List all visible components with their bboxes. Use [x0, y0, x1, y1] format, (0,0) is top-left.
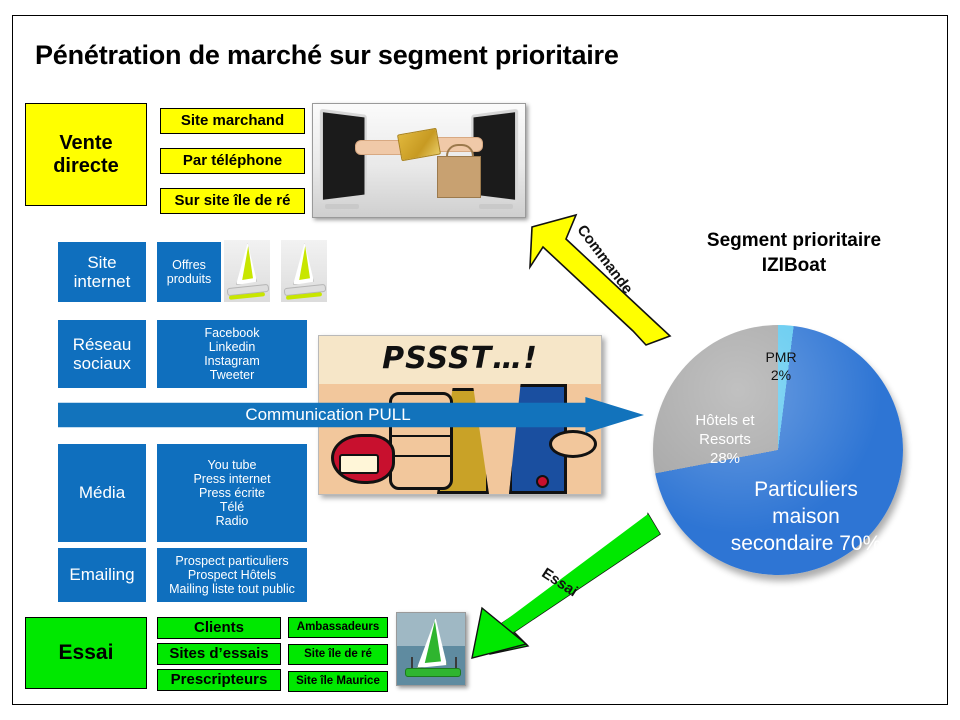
popart-teeth — [339, 454, 379, 474]
social-item: Linkedin — [209, 340, 256, 354]
essai-arrow[interactable]: Essai — [462, 512, 662, 672]
pie-label-hotels-value: 28% — [677, 449, 773, 468]
item-sur-site-ile-de-re[interactable]: Sur site île de ré — [160, 188, 305, 214]
media-label: Média — [79, 483, 125, 502]
vente-directe-line1: Vente — [59, 132, 112, 154]
segment-title: Segment prioritaire IZIBoat — [664, 228, 924, 278]
hull-shape — [405, 668, 461, 677]
communication-pull-label: Communication PULL — [58, 405, 598, 425]
segment-title-line2: IZIBoat — [664, 253, 924, 278]
pie-label-particuliers-l3: secondaire 70% — [711, 531, 901, 558]
item-sites-dessais[interactable]: Sites d’essais — [157, 643, 281, 665]
item-site-ile-maurice[interactable]: Site île Maurice — [288, 671, 388, 692]
finger-line — [392, 435, 450, 437]
boat-product-thumb-1 — [224, 240, 270, 302]
detail-media[interactable]: You tube Press internet Press écrite Tél… — [157, 444, 307, 542]
emailing-item: Prospect Hôtels — [188, 568, 276, 582]
media-item: Press écrite — [199, 486, 265, 500]
media-item: Télé — [220, 500, 244, 514]
pie-label-particuliers-l1: Particuliers — [711, 477, 901, 504]
popart-eye — [549, 430, 597, 458]
segment-title-line1: Segment prioritaire — [664, 228, 924, 253]
media-item: Radio — [216, 514, 249, 528]
ecommerce-image — [312, 103, 526, 218]
category-vente-directe[interactable]: Vente directe — [25, 103, 147, 206]
category-reseau-sociaux[interactable]: Réseau sociaux — [58, 320, 146, 388]
communication-pull-arrow[interactable]: Communication PULL — [58, 397, 644, 433]
media-item: You tube — [208, 458, 257, 472]
reseau-sociaux-line2: sociaux — [73, 354, 131, 373]
item-site-marchand[interactable]: Site marchand — [160, 108, 305, 134]
pie-label-particuliers: Particuliers maison secondaire 70% — [711, 477, 901, 558]
green-sailboat-image — [396, 612, 466, 686]
page-title: Pénétration de marché sur segment priori… — [35, 40, 619, 71]
slide-canvas: Pénétration de marché sur segment priori… — [0, 0, 960, 720]
emailing-item: Prospect particuliers — [175, 554, 288, 568]
detail-offres-produits[interactable]: Offres produits — [157, 242, 221, 302]
item-par-telephone[interactable]: Par téléphone — [160, 148, 305, 174]
social-item: Tweeter — [210, 368, 254, 382]
emailing-label: Emailing — [69, 565, 134, 584]
emailing-item: Mailing liste tout public — [169, 582, 295, 596]
pie-label-pmr-name: PMR — [749, 349, 813, 367]
pie-label-hotels-name1: Hôtels et — [677, 411, 773, 430]
pie-label-hotels-name2: Resorts — [677, 430, 773, 449]
category-media[interactable]: Média — [58, 444, 146, 542]
media-item: Press internet — [193, 472, 270, 486]
monitor-stand-left — [325, 204, 359, 209]
site-internet-line1: Site — [87, 253, 116, 272]
credit-card-icon — [397, 128, 441, 162]
reseau-sociaux-line1: Réseau — [73, 335, 132, 354]
monitor-left-icon — [320, 109, 367, 204]
item-prescripteurs[interactable]: Prescripteurs — [157, 669, 281, 691]
category-emailing[interactable]: Emailing — [58, 548, 146, 602]
offres-produits-line2: produits — [167, 272, 211, 286]
pie-label-pmr: PMR 2% — [749, 349, 813, 385]
category-essai[interactable]: Essai — [25, 617, 147, 689]
essai-label: Essai — [59, 641, 114, 665]
vente-directe-line2: directe — [53, 155, 119, 177]
item-site-ile-de-re[interactable]: Site île de ré — [288, 644, 388, 665]
item-ambassadeurs[interactable]: Ambassadeurs — [288, 617, 388, 638]
social-item: Facebook — [205, 326, 260, 340]
category-site-internet[interactable]: Site internet — [58, 242, 146, 302]
pie-label-hotels: Hôtels et Resorts 28% — [677, 411, 773, 469]
offres-produits-line1: Offres — [172, 258, 206, 272]
monitor-stand-right — [479, 204, 513, 209]
detail-emailing[interactable]: Prospect particuliers Prospect Hôtels Ma… — [157, 548, 307, 602]
pie-label-pmr-value: 2% — [749, 367, 813, 385]
social-item: Instagram — [204, 354, 260, 368]
detail-reseau-sociaux[interactable]: Facebook Linkedin Instagram Tweeter — [157, 320, 307, 388]
pie-chart[interactable]: PMR 2% Hôtels et Resorts 28% Particulier… — [653, 325, 915, 587]
pie-label-particuliers-l2: maison — [711, 504, 901, 531]
shopping-bag-icon — [437, 156, 481, 198]
site-internet-line2: internet — [74, 272, 131, 291]
finger-line — [392, 455, 450, 457]
boat-product-thumb-2 — [281, 240, 327, 302]
popart-earring — [536, 475, 549, 488]
item-clients[interactable]: Clients — [157, 617, 281, 639]
